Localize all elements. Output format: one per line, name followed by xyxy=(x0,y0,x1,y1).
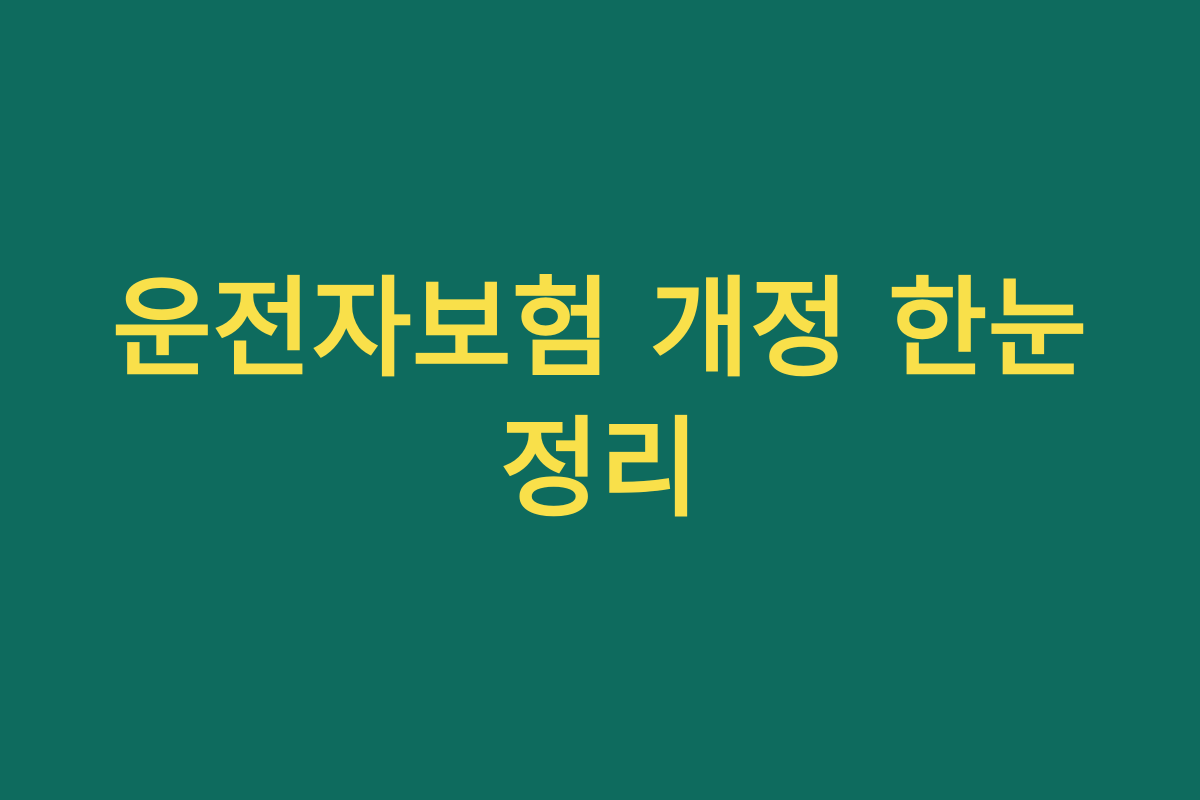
page-title: 운전자보험 개정 한눈 정리 xyxy=(85,260,1115,541)
title-card: 운전자보험 개정 한눈 정리 xyxy=(0,0,1200,800)
